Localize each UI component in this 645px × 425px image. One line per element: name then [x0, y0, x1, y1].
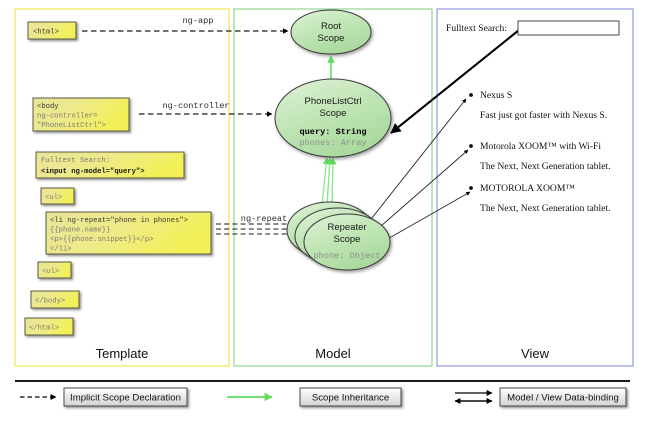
fulltext-search-label-text: Fulltext Search:: [41, 157, 110, 165]
repeater-scope-prop-phone: phone: Object: [313, 251, 380, 261]
body-controller-line-2: ng-controller=: [37, 113, 97, 121]
edge-label-ng-repeat: ng-repeat: [241, 214, 287, 224]
edge-inherit-rep3-to-ctrl: [332, 158, 333, 205]
repeater-scope-line-1: Repeater: [327, 222, 366, 233]
template-box-html-close[interactable]: </html>: [25, 318, 73, 335]
template-box-ul-close[interactable]: <ul>: [38, 262, 71, 278]
view-phone-name-1: Nexus S: [480, 90, 512, 101]
phonelistctrl-scope-prop-phones: phones: Array: [299, 138, 366, 148]
view-phone-snippet-2: The Next, Next Generation tablet.: [480, 161, 611, 172]
legend: Implicit Scope Declaration Scope Inherit…: [15, 381, 630, 406]
angularjs-concepts-diagram: Template Model View ng-app ng-controller…: [0, 0, 645, 425]
li-ng-repeat-line-1: <li ng-repeat="phone in phones">: [50, 217, 188, 225]
legend-label-implicit: Implicit Scope Declaration: [70, 393, 181, 404]
view-phone-name-3: MOTOROLA XOOM™: [480, 183, 575, 194]
template-box-li-ng-repeat[interactable]: <li ng-repeat="phone in phones"> {{phone…: [46, 212, 211, 254]
view-search-input[interactable]: [518, 21, 619, 35]
template-box-fulltext-search[interactable]: Fulltext Search: <input ng-model="query"…: [36, 152, 184, 178]
view-phone-snippet-1: Fast just got faster with Nexus S.: [480, 110, 607, 121]
view-bullet-icon-1: [469, 93, 473, 97]
view-phone-snippet-3: The Next, Next Generation tablet.: [480, 203, 611, 214]
ul-close-tag-text: <ul>: [42, 268, 59, 276]
template-box-body-close[interactable]: </body>: [31, 291, 79, 308]
phonelistctrl-scope-prop-query: query: String: [299, 127, 366, 137]
phonelistctrl-scope-line-2: Scope: [320, 108, 347, 119]
edge-label-ng-app: ng-app: [183, 16, 214, 26]
legend-label-data-binding: Model / View Data-binding: [507, 393, 619, 404]
phonelistctrl-scope-line-1: PhoneListCtrl: [304, 96, 361, 107]
html-open-tag-text: <html>: [33, 29, 59, 37]
edge-label-ng-controller: ng-controller: [162, 101, 229, 111]
root-scope-line-2: Scope: [318, 33, 345, 44]
legend-item-scope-inheritance: Scope Inheritance: [227, 388, 401, 406]
fulltext-search-input-text: <input ng-model="query">: [41, 168, 145, 176]
phonelistctrl-scope-node[interactable]: PhoneListCtrl Scope query: String phones…: [275, 79, 391, 157]
li-ng-repeat-line-2: {{phone.name}}: [50, 227, 110, 235]
view-phone-name-2: Motorola XOOM™ with Wi-Fi: [480, 141, 601, 152]
column-title-model: Model: [315, 346, 351, 361]
ul-open-tag-text: <ul>: [45, 194, 62, 202]
view-bullet-icon-3: [469, 186, 473, 190]
root-scope-node[interactable]: Root Scope: [291, 10, 371, 54]
root-scope-ellipse[interactable]: [291, 10, 371, 54]
template-box-body-controller[interactable]: <body ng-controller= "PhoneListCtrl">: [33, 98, 129, 131]
legend-item-implicit-scope-declaration: Implicit Scope Declaration: [20, 388, 187, 406]
root-scope-line-1: Root: [321, 21, 341, 32]
column-title-view: View: [521, 346, 550, 361]
legend-item-model-view-data-binding: Model / View Data-binding: [455, 388, 626, 406]
legend-label-inheritance: Scope Inheritance: [312, 393, 389, 404]
template-box-html-open[interactable]: <html>: [28, 22, 76, 39]
column-title-template: Template: [96, 346, 149, 361]
html-close-tag-text: </html>: [29, 325, 59, 333]
view-bullet-icon-2: [469, 144, 473, 148]
li-ng-repeat-line-4: </li>: [50, 246, 72, 254]
view-search-label: Fulltext Search:: [446, 23, 507, 34]
body-controller-line-3: "PhoneListCtrl">: [37, 122, 106, 130]
body-controller-line-1: <body: [37, 103, 59, 111]
template-box-ul-open[interactable]: <ul>: [41, 188, 74, 204]
body-close-tag-text: </body>: [35, 298, 65, 306]
repeater-scope-line-2: Scope: [334, 234, 361, 245]
li-ng-repeat-line-3: <p>{{phone.snippet}}</p>: [50, 236, 154, 244]
